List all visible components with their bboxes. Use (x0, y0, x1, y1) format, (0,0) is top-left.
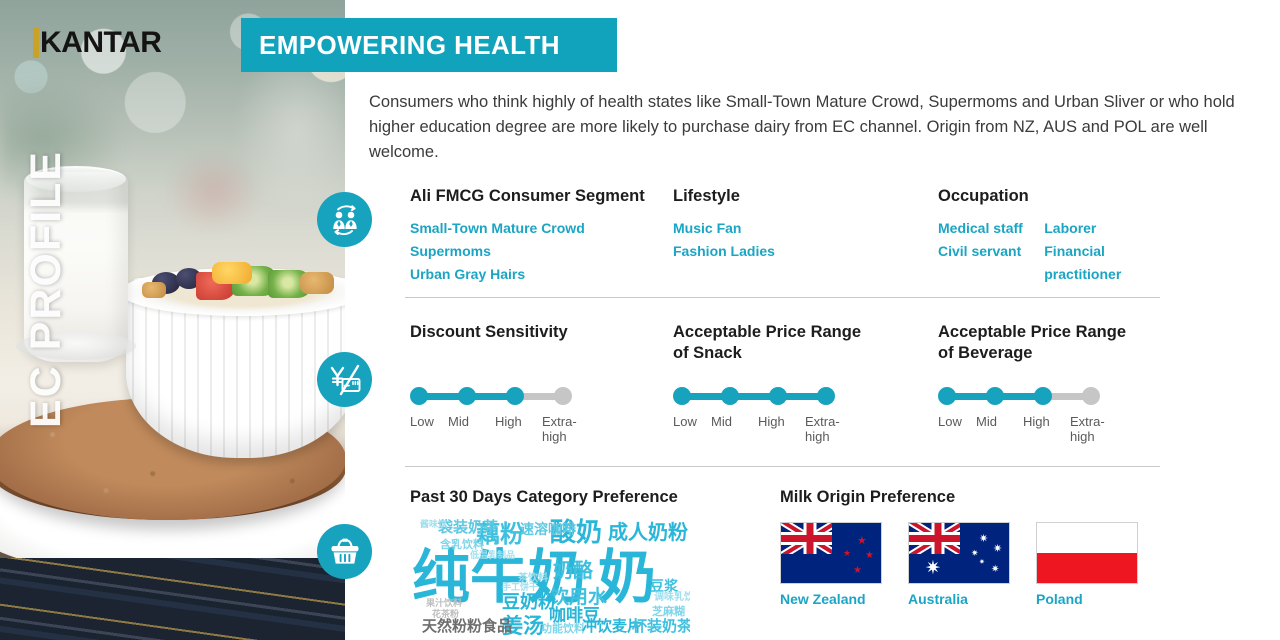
ec-profile-vertical-label: EC PROFILE (22, 150, 71, 428)
slider-tick-label: Low (673, 414, 711, 444)
word-cloud-term: 速溶咖啡 (520, 523, 576, 537)
lifestyle-column: Lifestyle Music Fan Fashion Ladies (673, 186, 938, 286)
slider-heading-spacer (410, 343, 673, 364)
profile-section: Ali FMCG Consumer Segment Small-Town Mat… (410, 186, 1165, 286)
occupation-item: Medical staff (938, 217, 1044, 240)
country-label: Poland (1036, 591, 1138, 607)
slider-dot[interactable] (673, 387, 691, 405)
slider-control[interactable] (938, 386, 1108, 406)
slider-block: Acceptable Price Rangeof BeverageLowMidH… (938, 322, 1165, 444)
striped-tablecloth (0, 558, 345, 640)
preference-section: Past 30 Days Category Preference 纯牛奶奶藕粉酸… (410, 487, 1165, 636)
hero-photo: EC PROFILE (0, 0, 345, 640)
category-preference-block: Past 30 Days Category Preference 纯牛奶奶藕粉酸… (410, 487, 780, 636)
slider-dot[interactable] (817, 387, 835, 405)
union-jack (909, 523, 960, 554)
slider-control[interactable] (673, 386, 843, 406)
milk-origin-heading: Milk Origin Preference (780, 487, 1165, 508)
slider-dot[interactable] (458, 387, 476, 405)
kantar-logo: KANTAR (33, 28, 161, 58)
category-word-cloud: 纯牛奶奶藕粉酸奶成人奶粉袋装奶茶速溶咖啡含乳饮料奶酪饮用水豆奶粉咖啡豆姜汤天然粉… (410, 518, 690, 636)
slider-block: Discount Sensitivity LowMidHighExtra-hig… (410, 322, 673, 444)
word-cloud-term: 调味乳饮 (654, 593, 690, 603)
occupation-item: Financial practitioner (1044, 240, 1165, 286)
word-cloud-term: 饮用水 (550, 588, 607, 607)
word-cloud-term: 奶酪 (553, 560, 593, 580)
slider-track-fill (681, 393, 827, 400)
price-sliders-section: Discount Sensitivity LowMidHighExtra-hig… (410, 322, 1165, 444)
word-cloud-term: 芝麻糊 (652, 606, 685, 617)
kantar-logo-text: KANTAR (40, 28, 161, 58)
segment-item: Supermoms (410, 240, 673, 263)
slider-tick-label: Low (410, 414, 448, 444)
cereal-granola (142, 282, 166, 298)
mango-slice (212, 262, 252, 284)
word-cloud-term: 酱味饮 (420, 521, 447, 530)
slider-heading-line2: of Snack (673, 343, 938, 364)
lifestyle-heading: Lifestyle (673, 186, 938, 207)
slider-control[interactable] (410, 386, 580, 406)
kantar-logo-accent-bar (33, 28, 39, 58)
slider-tick-label: High (495, 414, 542, 444)
word-cloud-term: 低温乳制品 (470, 552, 515, 561)
slider-dot[interactable] (769, 387, 787, 405)
word-cloud-term: 手工饼干 (502, 584, 538, 593)
intro-paragraph: Consumers who think highly of health sta… (369, 90, 1245, 165)
slider-tick-label: High (1023, 414, 1070, 444)
segment-item: Urban Gray Hairs (410, 263, 673, 286)
slider-heading: Acceptable Price Range (673, 322, 938, 343)
word-cloud-term: 天然粉粉食品 (422, 619, 512, 634)
word-cloud-term: 花茶粉 (432, 611, 459, 620)
slider-tick-labels: LowMidHighExtra-high (410, 414, 673, 444)
slider-tick-label: Mid (448, 414, 495, 444)
slider-dot[interactable] (410, 387, 428, 405)
occupation-heading: Occupation (938, 186, 1165, 207)
pl-flag-icon (1036, 522, 1138, 584)
country-label: Australia (908, 591, 1010, 607)
poland-red-band (1037, 553, 1137, 583)
word-cloud-term: 含乳饮料 (440, 539, 484, 550)
category-preference-heading: Past 30 Days Category Preference (410, 487, 780, 508)
slider-dot[interactable] (1034, 387, 1052, 405)
slider-tick-label: Mid (976, 414, 1023, 444)
slider-tick-labels: LowMidHighExtra-high (673, 414, 938, 444)
slider-dot[interactable] (1082, 387, 1100, 405)
occupation-subcolumn-1: Medical staff Civil servant (938, 217, 1044, 286)
slider-tick-label: Extra-high (805, 414, 845, 444)
union-jack (781, 523, 832, 554)
cereal-granola (300, 272, 334, 294)
slider-dot[interactable] (506, 387, 524, 405)
milk-origin-item[interactable]: ★ ★ ★ ★New Zealand (780, 522, 882, 607)
slider-block: Acceptable Price Rangeof SnackLowMidHigh… (673, 322, 938, 444)
country-label: New Zealand (780, 591, 882, 607)
word-cloud-term: 成人奶粉 (608, 522, 688, 542)
segment-column: Ali FMCG Consumer Segment Small-Town Mat… (410, 186, 673, 286)
slider-tick-label: High (758, 414, 805, 444)
slider-tick-labels: LowMidHighExtra-high (938, 414, 1165, 444)
slider-dot[interactable] (721, 387, 739, 405)
slider-tick-label: Mid (711, 414, 758, 444)
occupation-item: Laborer (1044, 217, 1165, 240)
word-cloud-term: 功能饮料 (541, 623, 585, 634)
poland-white-band (1037, 523, 1137, 553)
occupation-subcolumn-2: Laborer Financial practitioner (1044, 217, 1165, 286)
word-cloud-term: 杯装奶茶 (632, 619, 690, 634)
segment-heading: Ali FMCG Consumer Segment (410, 186, 673, 207)
milk-origin-item[interactable]: Poland (1036, 522, 1138, 607)
word-cloud-term: 豆奶粉 (502, 594, 556, 612)
lifestyle-item: Music Fan (673, 217, 938, 240)
slider-dot[interactable] (986, 387, 1004, 405)
segment-item: Small-Town Mature Crowd (410, 217, 673, 240)
slider-heading: Discount Sensitivity (410, 322, 673, 343)
word-cloud-term: 果汁饮料 (426, 600, 462, 609)
au-flag-icon: ✷ ✷ ✷ ✷ ✷ ✷ (908, 522, 1010, 584)
content-area: Consumers who think highly of health sta… (345, 0, 1280, 640)
milk-origin-block: Milk Origin Preference ★ ★ ★ ★New Zealan… (780, 487, 1165, 636)
occupation-item: Civil servant (938, 240, 1044, 263)
slider-tick-label: Low (938, 414, 976, 444)
slider-heading: Acceptable Price Range (938, 322, 1165, 343)
lifestyle-item: Fashion Ladies (673, 240, 938, 263)
slide-root: EC PROFILE KANTAR EMPOWERING HEALTH (0, 0, 1280, 640)
milk-origin-item[interactable]: ✷ ✷ ✷ ✷ ✷ ✷Australia (908, 522, 1010, 607)
slider-dot[interactable] (554, 387, 572, 405)
slider-tick-label: Extra-high (1070, 414, 1110, 444)
slider-heading-line2: of Beverage (938, 343, 1165, 364)
nz-flag-icon: ★ ★ ★ ★ (780, 522, 882, 584)
slider-tick-label: Extra-high (542, 414, 582, 444)
occupation-column: Occupation Medical staff Civil servant L… (938, 186, 1165, 286)
slider-dot[interactable] (938, 387, 956, 405)
